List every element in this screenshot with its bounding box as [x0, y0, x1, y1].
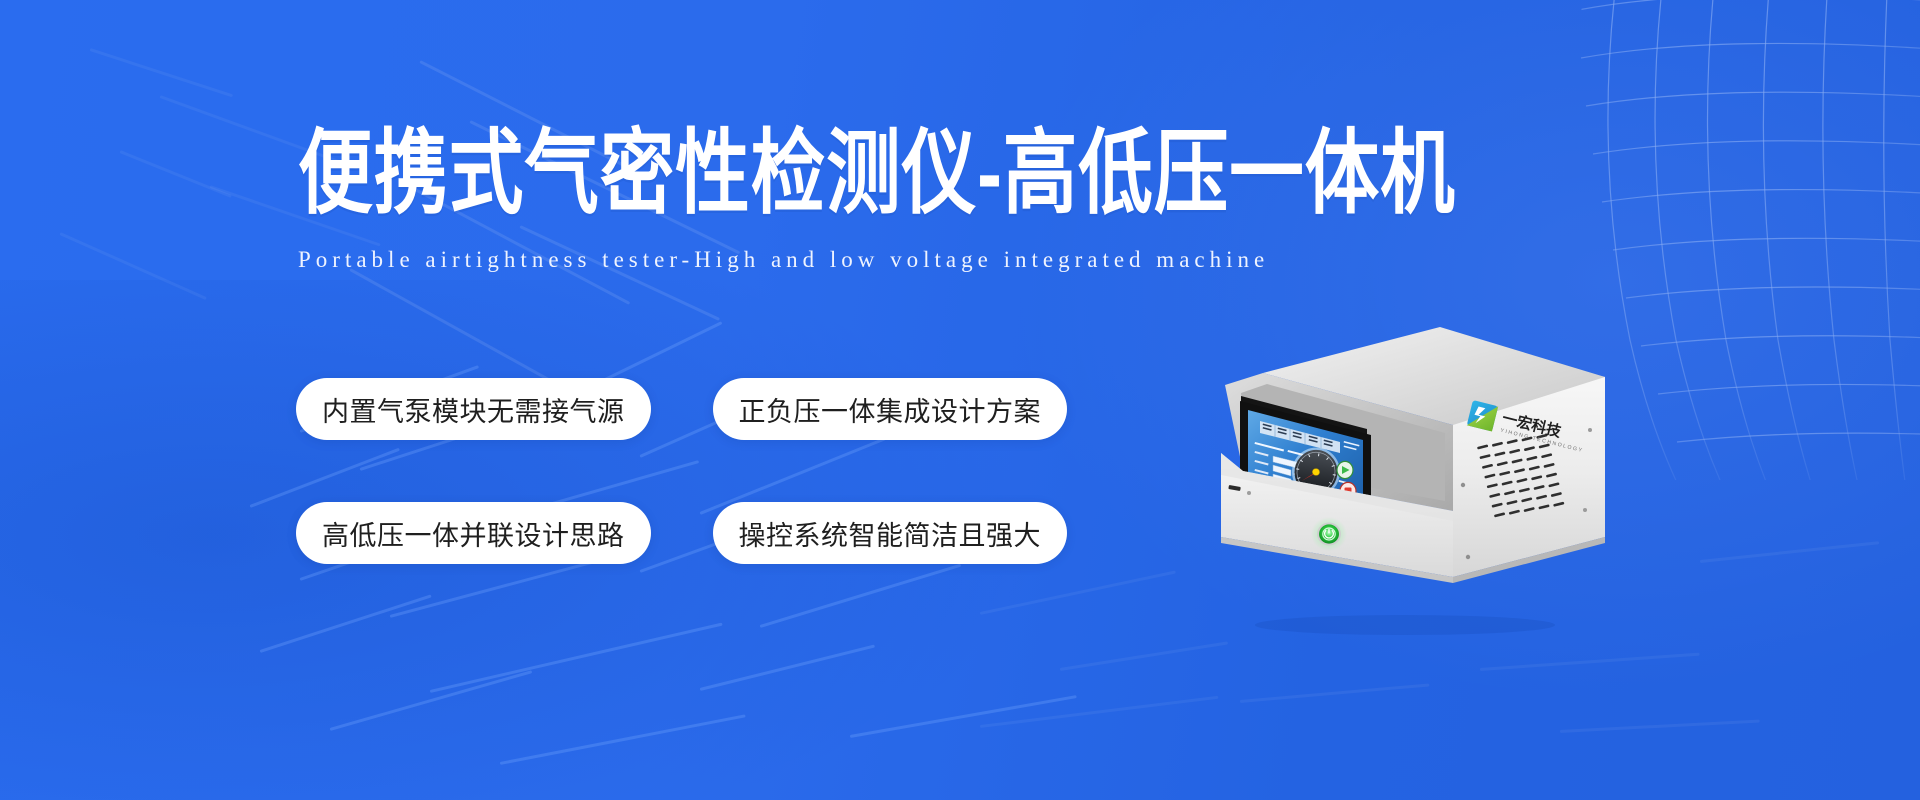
front-screw [1247, 491, 1251, 495]
side-screw-bottom [1583, 508, 1587, 512]
feature-pill-label: 内置气泵模块无需接气源 [322, 390, 625, 429]
feature-pill-label: 操控系统智能简洁且强大 [739, 514, 1042, 553]
banner-content: 便携式气密性检测仪-高低压一体机 Portable airtightness t… [0, 0, 1920, 800]
feature-pill-1[interactable]: 内置气泵模块无需接气源 [296, 378, 651, 440]
product-device-image: 一宏科技 YIHONG TECHNOLOGY [1185, 325, 1615, 635]
device-shadow [1255, 615, 1555, 635]
corner-screw [1461, 483, 1465, 487]
side-screw-top [1588, 428, 1592, 432]
feature-pill-4[interactable]: 操控系统智能简洁且强大 [713, 502, 1068, 564]
feature-pill-2[interactable]: 正负压一体集成设计方案 [713, 378, 1068, 440]
feature-pill-label: 高低压一体并联设计思路 [322, 514, 625, 553]
page-subtitle: Portable airtightness tester-High and lo… [298, 247, 1269, 273]
corner-screw-bottom [1466, 555, 1470, 559]
feature-pill-group: 内置气泵模块无需接气源 正负压一体集成设计方案 高低压一体并联设计思路 操控系统… [296, 378, 1067, 626]
feature-pill-label: 正负压一体集成设计方案 [739, 390, 1042, 429]
hero-banner: 便携式气密性检测仪-高低压一体机 Portable airtightness t… [0, 0, 1920, 800]
feature-pill-3[interactable]: 高低压一体并联设计思路 [296, 502, 651, 564]
power-button [1311, 517, 1347, 551]
feature-pill-row-2: 高低压一体并联设计思路 操控系统智能简洁且强大 [296, 502, 1067, 564]
page-title: 便携式气密性检测仪-高低压一体机 [298, 128, 1456, 221]
device-illustration: 一宏科技 YIHONG TECHNOLOGY [1185, 325, 1615, 635]
feature-pill-row-1: 内置气泵模块无需接气源 正负压一体集成设计方案 [296, 378, 1067, 440]
